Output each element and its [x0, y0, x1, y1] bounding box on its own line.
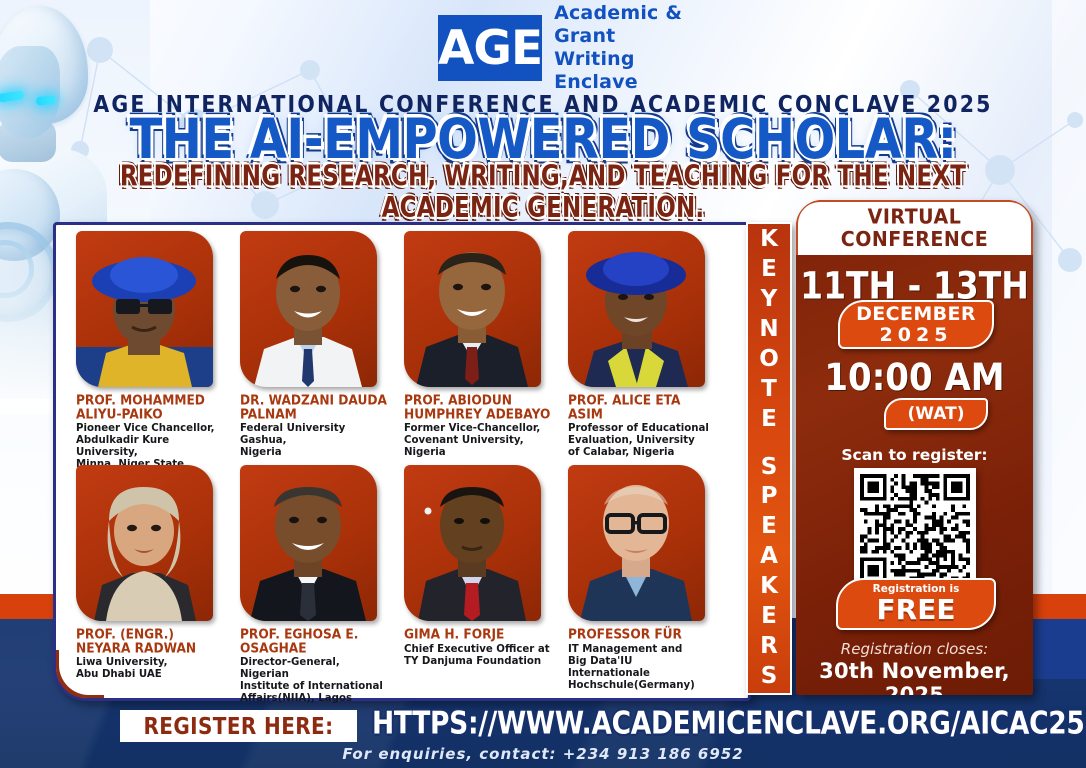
keyband-letter: N	[759, 315, 778, 345]
event-month-pill: DECEMBER 2025	[838, 300, 994, 349]
keyband-letter: Y	[761, 285, 778, 315]
logo-wordmark: Academic & Grant Writing Enclave	[554, 2, 688, 95]
scan-to-register-label: Scan to register:	[796, 446, 1033, 464]
keyband-letter: E	[761, 602, 777, 632]
event-month: DECEMBER	[856, 304, 976, 324]
register-here-chip: REGISTER HERE:	[120, 710, 357, 742]
register-here-label: REGISTER HERE:	[143, 712, 333, 739]
speaker-card[interactable]: PROFESSOR FÜR IT Management and Big Data…	[560, 465, 715, 705]
speakers-row-2: PROF. (ENGR.) NEYARA RADWAN Liwa Univers…	[68, 465, 736, 705]
keynote-word: KEYNOTE	[759, 225, 779, 434]
speaker-card[interactable]: DR. WADZANI DAUDA PALNAM Federal Univers…	[232, 231, 387, 482]
speaker-name: GIMA H. FORJE	[404, 628, 551, 642]
speaker-card[interactable]: PROF. (ENGR.) NEYARA RADWAN Liwa Univers…	[68, 465, 223, 705]
event-timezone: (WAT)	[908, 404, 965, 424]
logo-mark: AGE	[438, 15, 542, 81]
speaker-role: Former Vice-Chancellor, Covenant Univers…	[404, 423, 551, 458]
keyband-letter: R	[760, 632, 778, 662]
speaker-photo	[568, 465, 705, 621]
keyband-letter: P	[761, 482, 778, 512]
speakers-row-1: PROF. MOHAMMED ALIYU-PAIKO Pioneer Vice …	[68, 231, 736, 482]
registration-free-pill: Registration is FREE	[836, 578, 996, 630]
keynote-speakers-band: KEYNOTE SPEAKERS	[746, 222, 792, 695]
speaker-name: PROF. (ENGR.) NEYARA RADWAN	[76, 628, 223, 656]
blue-accent-band-right	[1024, 619, 1086, 679]
speaker-role: Professor of Educational Evaluation, Uni…	[568, 423, 715, 458]
qr-code[interactable]	[854, 468, 976, 590]
orange-accent-band-right	[1024, 594, 1086, 619]
age-logo: AGE Academic & Grant Writing Enclave	[438, 6, 688, 90]
free-label: FREE	[877, 596, 956, 624]
speaker-role: Director-General, Nigerian Institute of …	[240, 657, 387, 704]
event-year: 2025	[880, 325, 953, 345]
qr-code-image	[860, 474, 970, 584]
keyband-letter: E	[761, 405, 777, 435]
speaker-card[interactable]: GIMA H. FORJE Chief Executive Officer at…	[396, 465, 551, 705]
speaker-name: DR. WADZANI DAUDA PALNAM	[240, 394, 387, 422]
speaker-name: PROF. ALICE ETA ASIM	[568, 394, 715, 422]
speaker-photo	[568, 231, 705, 387]
keyband-letter: O	[759, 345, 779, 375]
speaker-photo	[240, 465, 377, 621]
logo-mark-text: AGE	[438, 25, 542, 72]
speaker-card[interactable]: PROF. ABIODUN HUMPHREY ADEBAYO Former Vi…	[396, 231, 551, 482]
registration-closes-date: 30th November, 2025	[796, 659, 1033, 695]
flyer-canvas: AGE Academic & Grant Writing Enclave AGE…	[0, 0, 1086, 768]
speaker-photo	[240, 231, 377, 387]
registration-closes-label: Registration closes:	[796, 640, 1033, 658]
speaker-name: PROFESSOR FÜR	[568, 628, 715, 642]
keyband-letter: E	[761, 512, 777, 542]
speaker-photo	[404, 465, 541, 621]
speakers-word: SPEAKERS	[760, 453, 778, 692]
event-timezone-pill: (WAT)	[884, 398, 988, 430]
speaker-role: Federal University Gashua, Nigeria	[240, 423, 387, 458]
keyband-letter: A	[760, 542, 778, 572]
speaker-photo	[404, 231, 541, 387]
enquiries-line: For enquiries, contact: +234 913 186 695…	[0, 745, 1086, 763]
keyband-letter: S	[761, 453, 778, 483]
speaker-photo	[76, 231, 213, 387]
logo-line-1: Academic &	[554, 2, 688, 25]
keyband-letter: E	[761, 255, 777, 285]
speaker-name: PROF. EGHOSA E. OSAGHAE	[240, 628, 387, 656]
virtual-conference-label: VIRTUAL CONFERENCE	[798, 207, 1031, 250]
speaker-card[interactable]: PROF. ALICE ETA ASIM Professor of Educat…	[560, 231, 715, 482]
event-details-panel: VIRTUAL CONFERENCE 11TH - 13TH DECEMBER …	[796, 200, 1033, 695]
logo-line-2: Grant Writing	[554, 25, 688, 71]
keynote-speakers-card: PROF. MOHAMMED ALIYU-PAIKO Pioneer Vice …	[53, 222, 751, 701]
keyband-letter: T	[761, 375, 777, 405]
speaker-name: PROF. MOHAMMED ALIYU-PAIKO	[76, 394, 223, 422]
speaker-role: IT Management and Big Data'IU Internatio…	[568, 644, 715, 691]
speaker-role: Chief Executive Officer at TY Danjuma Fo…	[404, 644, 551, 668]
speaker-photo	[76, 465, 213, 621]
event-time: 10:00 AM	[796, 356, 1033, 400]
speaker-card[interactable]: PROF. EGHOSA E. OSAGHAE Director-General…	[232, 465, 387, 705]
speaker-role: Liwa University, Abu Dhabi UAE	[76, 657, 223, 681]
keyband-letter: K	[760, 572, 778, 602]
keyband-letter: K	[760, 225, 778, 255]
keyband-letter: S	[761, 662, 778, 692]
registration-url[interactable]: HTTPS://WWW.ACADEMICENCLAVE.ORG/AICAC25	[372, 705, 1085, 742]
speaker-name: PROF. ABIODUN HUMPHREY ADEBAYO	[404, 394, 551, 422]
virtual-conference-header: VIRTUAL CONFERENCE	[796, 200, 1033, 255]
speaker-card[interactable]: PROF. MOHAMMED ALIYU-PAIKO Pioneer Vice …	[68, 231, 223, 482]
